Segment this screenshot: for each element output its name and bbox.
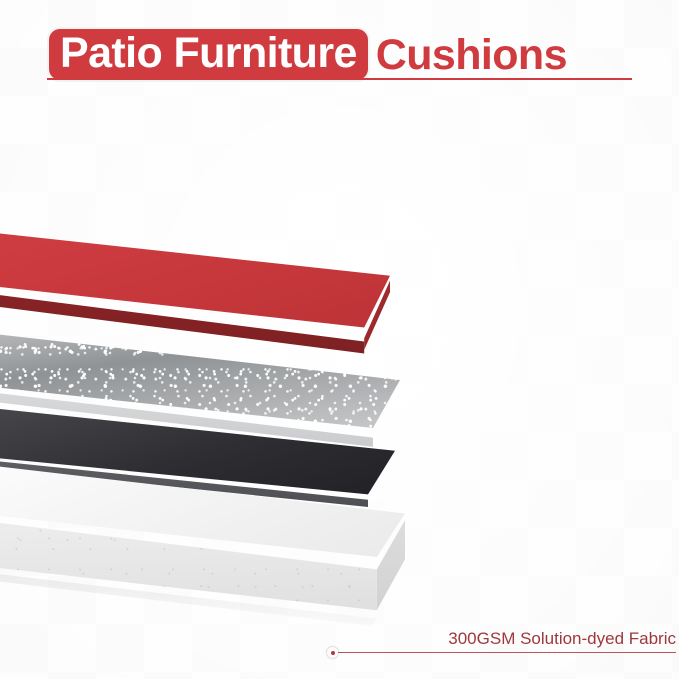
callout-leader-fabric [338,652,676,653]
callout-marker-fabric [327,647,338,658]
title-plain-text: Cushions [376,33,567,77]
title-underline-rule [47,78,632,80]
title-highlight-text: Patio Furniture [47,27,370,82]
infographic-page: Patio Furniture Cushions 300GSM Solution… [0,0,679,679]
page-title: Patio Furniture Cushions [47,27,567,82]
page-header: Patio Furniture Cushions [0,0,679,92]
callout-label-fabric: 300GSM Solution-dyed Fabric [376,628,676,650]
layer-stack-illustration [0,232,440,607]
